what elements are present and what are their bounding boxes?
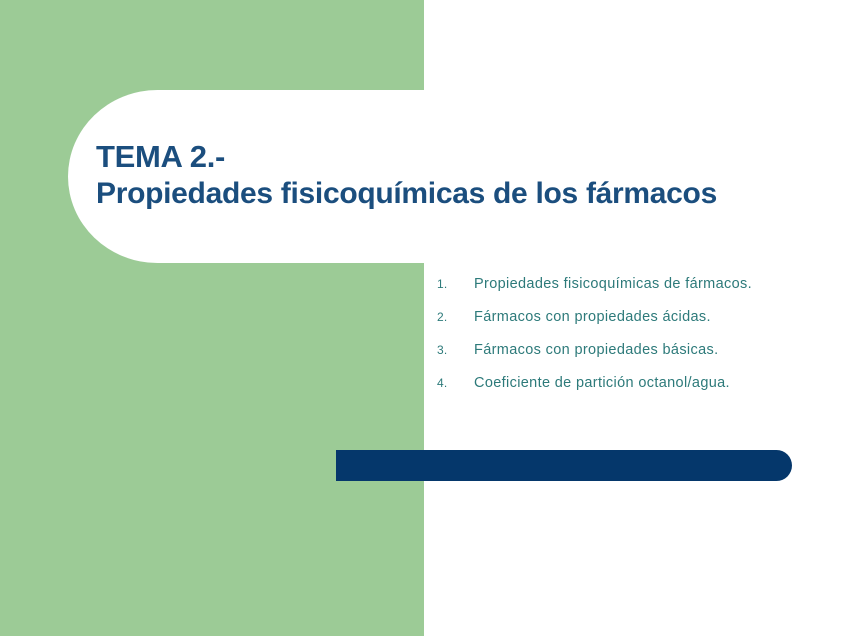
list-item-number: 2. [437,310,474,324]
list-item-label: Fármacos con propiedades ácidas. [474,309,711,325]
list-item: 3. Fármacos con propiedades básicas. [437,342,817,375]
list-item-label: Coeficiente de partición octanol/agua. [474,375,730,391]
list-item: 2. Fármacos con propiedades ácidas. [437,309,817,342]
title-line-2: Propiedades fisicoquímicas de los fármac… [96,176,756,212]
slide-title: TEMA 2.- Propiedades fisicoquímicas de l… [96,138,756,212]
title-line-1: TEMA 2.- [96,138,756,176]
agenda-list: 1. Propiedades fisicoquímicas de fármaco… [437,276,817,408]
list-item-label: Fármacos con propiedades básicas. [474,342,718,358]
list-item: 4. Coeficiente de partición octanol/agua… [437,375,817,408]
list-item-number: 1. [437,277,474,291]
list-item-label: Propiedades fisicoquímicas de fármacos. [474,276,752,292]
presentation-slide: TEMA 2.- Propiedades fisicoquímicas de l… [0,0,848,636]
list-item-number: 4. [437,376,474,390]
accent-bar [336,450,792,481]
list-item-number: 3. [437,343,474,357]
list-item: 1. Propiedades fisicoquímicas de fármaco… [437,276,817,309]
